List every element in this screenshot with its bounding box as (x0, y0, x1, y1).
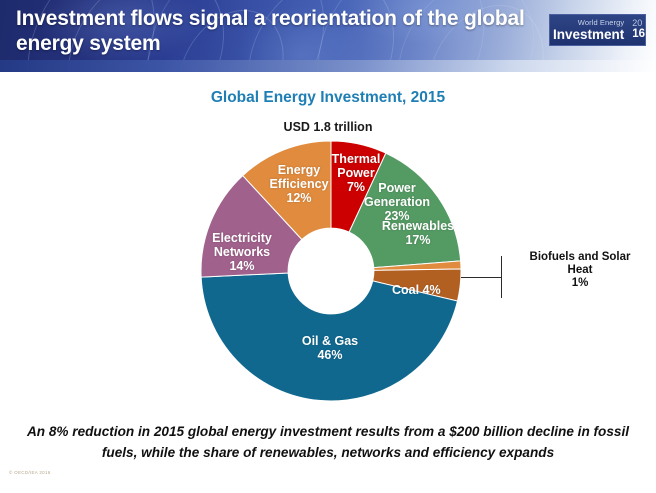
logo-line-world-energy: World Energy (553, 19, 624, 27)
world-energy-investment-logo: World Energy Investment 20 16 (549, 14, 646, 46)
logo-year-bottom: 16 (632, 29, 645, 41)
slice-label-line: Generation (364, 195, 430, 209)
callout-leader-line (461, 277, 502, 278)
slice-label-coal: Coal 4% (392, 283, 462, 297)
logo-year: 20 16 (628, 19, 645, 41)
slice-label-value: 14% (229, 259, 254, 273)
slide-caption: An 8% reduction in 2015 global energy in… (22, 421, 634, 463)
slice-label-energy-efficiency: Energy Efficiency 12% (258, 163, 340, 205)
slice-label-value: 46% (317, 348, 342, 362)
slice-label-power-generation: Power Generation 23% (349, 181, 445, 223)
slice-label-line: Networks (214, 245, 270, 259)
caption-line-1: An 8% reduction in 2015 global energy in… (27, 424, 574, 439)
slice-label-line: Renewables (382, 219, 454, 233)
annotation-value: 1% (572, 277, 589, 289)
logo-wordmark: World Energy Investment (553, 19, 628, 41)
slice-label-line: Oil & Gas (302, 334, 358, 348)
annotation-line: Heat (568, 264, 593, 276)
slice-label-line: Power (378, 181, 416, 195)
slice-label-oil-and-gas: Oil & Gas 46% (270, 334, 390, 362)
slice-label-electricity-networks: Electricity Networks 14% (196, 231, 288, 273)
callout-bracket (501, 256, 502, 298)
slice-label-value: 17% (405, 233, 430, 247)
annotation-biofuels-solar-heat: Biofuels and Solar Heat 1% (506, 251, 654, 290)
slice-label-value: 12% (286, 191, 311, 205)
logo-year-top: 20 (632, 19, 645, 28)
slice-label-line: Power (337, 166, 375, 180)
slice-label-line: Energy (278, 163, 320, 177)
slide-title: Investment flows signal a reorientation … (16, 6, 536, 56)
slice-label-renewables: Renewables 17% (378, 219, 458, 247)
logo-line-investment: Investment (553, 28, 624, 42)
chart-title: Global Energy Investment, 2015 (0, 89, 656, 107)
slice-label-line: Efficiency (269, 177, 328, 191)
slice-label-line: Electricity (212, 231, 272, 245)
copyright-notice: © OECD/IEA 2016 (9, 470, 51, 475)
slice-label-line: Coal 4% (392, 283, 441, 297)
annotation-line: Biofuels and Solar (530, 251, 631, 263)
header-accent-bar (0, 60, 656, 72)
chart-subtitle: USD 1.8 trillion (0, 120, 656, 134)
